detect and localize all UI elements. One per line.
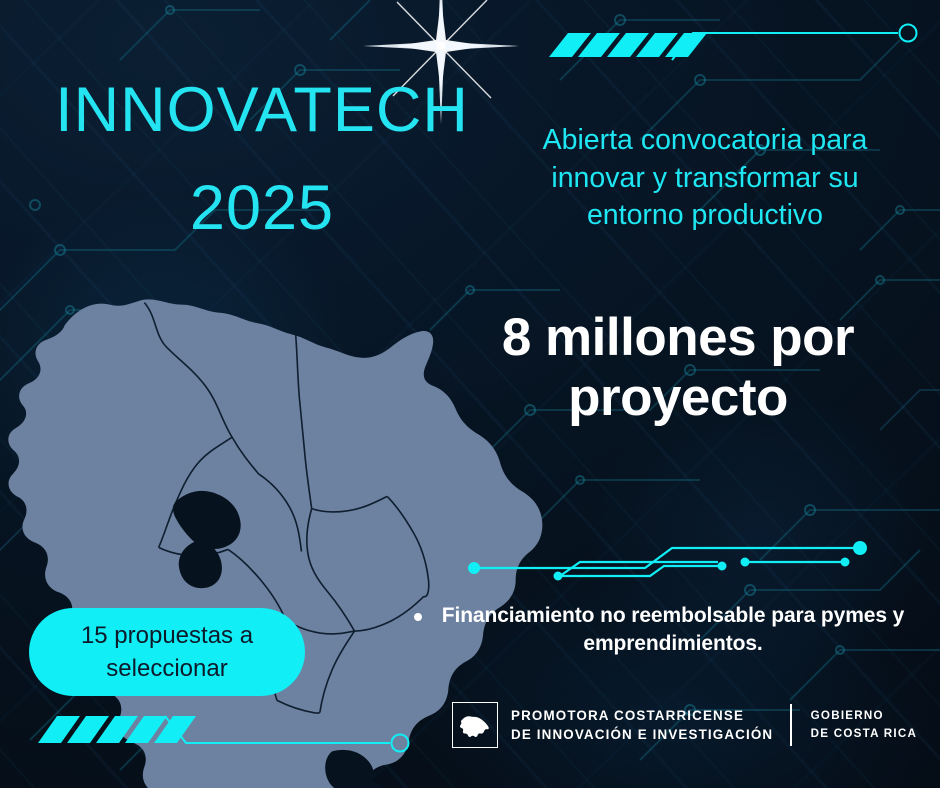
headline-amount: 8 millones por proyecto: [452, 308, 904, 428]
government-name: GOBIERNO DE COSTA RICA: [811, 707, 917, 742]
government-name-line1: GOBIERNO: [811, 707, 917, 725]
org-name-line1: PROMOTORA COSTARRICENSE: [511, 706, 773, 725]
costa-rica-silhouette-icon: [452, 702, 498, 748]
logo-divider: [790, 704, 791, 746]
org-name: PROMOTORA COSTARRICENSE DE INNOVACIÓN E …: [511, 706, 773, 744]
org-name-line2: DE INNOVACIÓN E INVESTIGACIÓN: [511, 725, 773, 744]
government-name-line2: DE COSTA RICA: [811, 725, 917, 743]
page-title-year: 2025: [34, 176, 490, 240]
bullet-dot-icon: [414, 613, 422, 621]
page-title: INNOVATECH: [34, 78, 490, 142]
bullet-text: Financiamiento no reembolsable para pyme…: [432, 602, 914, 658]
poster-canvas: INNOVATECH 2025 Abierta convocatoria par…: [0, 0, 940, 788]
bullet-item: Financiamiento no reembolsable para pyme…: [414, 602, 914, 658]
proposals-badge: 15 propuestas a seleccionar: [29, 608, 305, 696]
subtitle-text: Abierta convocatoria para innovar y tran…: [500, 122, 910, 235]
footer-logo-lockup: PROMOTORA COSTARRICENSE DE INNOVACIÓN E …: [452, 702, 917, 748]
